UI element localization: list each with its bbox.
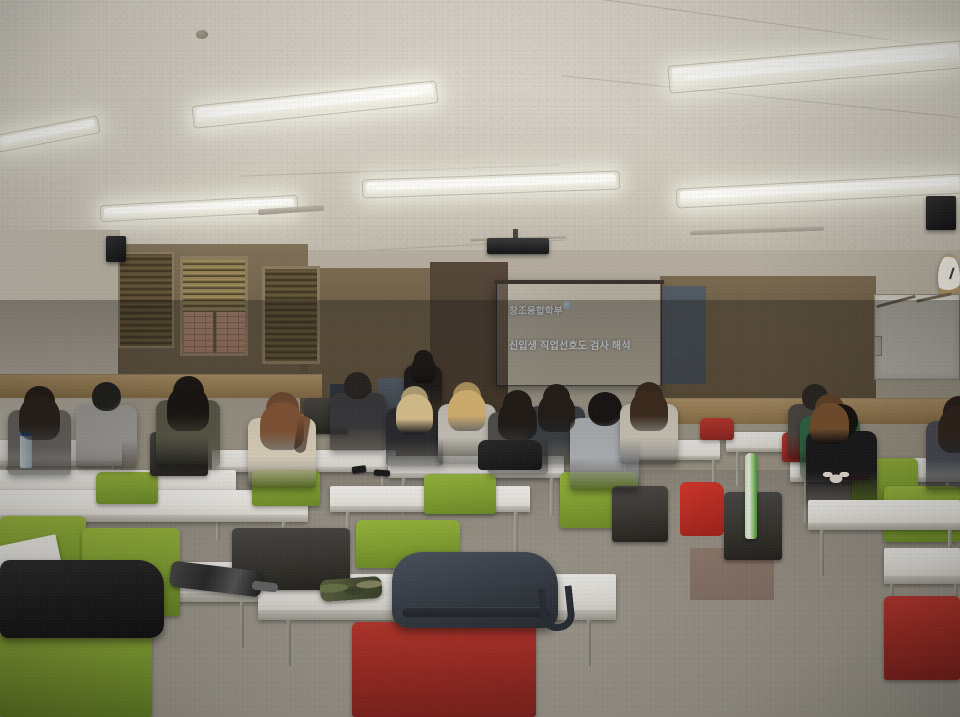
hoodie-graphic-print [823,470,849,486]
black-bag [0,560,164,638]
light-switch-plate[interactable] [874,336,882,356]
desk-leg [287,620,291,666]
chair-green-8 [96,472,158,504]
person-head [344,372,371,399]
person-hair [167,385,209,430]
slide-line-1: 창조융합학부 [509,303,662,317]
whiteboard-right [874,294,960,380]
desk-leg [820,530,824,576]
desk-right-4 [884,548,960,584]
ceiling-projector [487,238,549,254]
window-left-2 [262,266,320,364]
person-hair [448,390,486,431]
desk-leg [550,478,554,515]
student-far-right [926,396,960,498]
umbrella-green-hanging [745,453,757,539]
screen-right-edge [662,286,706,384]
person-head [92,382,121,411]
person-hair [538,392,575,432]
person-torso [76,405,137,468]
desk-right-3 [808,500,960,530]
student-mid-1 [330,372,386,457]
sprinkler-head [196,30,208,39]
student-far-left-2 [76,382,137,474]
person-torso [330,393,386,451]
screen-top-bar [494,280,664,284]
backpack-strap [538,585,576,632]
chair-green-3 [0,630,152,717]
student-far-left-1 [8,386,71,482]
window-left-1 [180,256,248,356]
desk-leg [736,452,740,486]
shoulder-bag-black [478,440,542,470]
person-hair [19,395,60,439]
student-blonde-1 [386,386,443,472]
desk-leg [587,620,591,666]
desk-leg [240,602,244,648]
umbrella-camo-folded [319,576,382,602]
person-hair [938,406,960,453]
mobile-phone[interactable] [374,469,390,476]
backpack-navy [392,552,558,628]
student-right-1 [620,382,678,470]
classroom-photo: 창조융합학부 신입생 직업선호도 검사 해석 학생생활상담센터 [0,0,960,717]
person-hair [498,399,537,441]
desk-leg [514,512,518,556]
wall-speaker-left [106,236,126,262]
chair-green-6 [424,474,496,514]
person-hair [630,390,668,431]
person-hair [396,394,433,434]
projection-screen: 창조융합학부 신입생 직업선호도 검사 해석 학생생활상담센터 [496,282,662,386]
student-left-pony [248,392,316,495]
red-jacket [680,482,724,536]
chair-red-1 [352,622,536,717]
person-hair [411,356,436,383]
window-left-3 [118,252,174,348]
student-left-glasses [156,376,220,474]
wall-speaker-right [926,196,956,230]
chair-red-2 [884,596,960,680]
chair-red-5 [700,418,734,440]
slide-line-2: 신입생 직업선호도 검사 해석 [509,337,662,352]
person-head [588,392,622,426]
person-hair [810,403,849,445]
